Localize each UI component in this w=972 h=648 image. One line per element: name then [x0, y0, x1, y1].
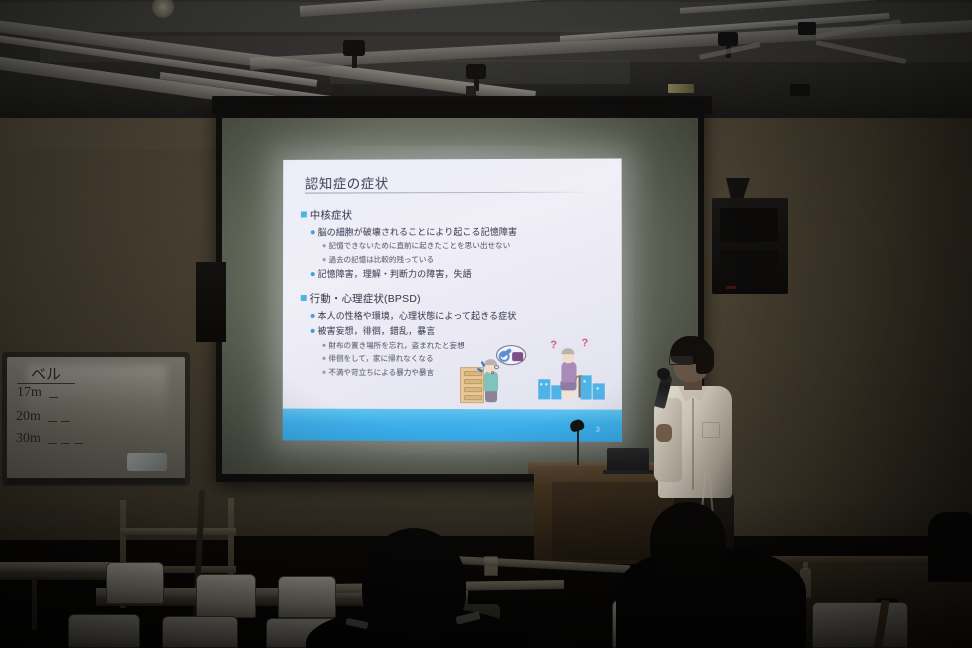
speaker-led-indicator [726, 286, 736, 289]
slide-title: 認知症の症状 [305, 172, 389, 192]
whiteboard-row-label: 20m [16, 409, 41, 425]
bullet-level2: 脳の細胞が破壊されることにより起こる記憶障害 [311, 224, 517, 237]
bullet-level2: 被害妄想，徘徊，錯乱，暴言 [311, 324, 517, 337]
audience-member-far-right [928, 512, 972, 582]
lecture-room-photo: 認知症の症状 中核症状 脳の細胞が破壊されることにより起こる記憶障害 記憶できな… [0, 0, 972, 648]
bullet-level2: 本人の性格や環境，心理状態によって起きる症状 [311, 308, 517, 321]
square-bullet-icon [301, 295, 307, 301]
wall-speaker-right [712, 198, 788, 294]
hollow-bullet-icon [322, 343, 325, 346]
dot-bullet-icon [311, 272, 315, 276]
presentation-laptop[interactable] [607, 448, 649, 470]
section-heading: 中核症状 [301, 207, 517, 223]
whiteboard-title: ベル [31, 363, 61, 384]
dot-bullet-icon [311, 313, 315, 317]
square-bullet-icon [301, 211, 307, 217]
dot-bullet-icon [311, 230, 315, 234]
chair [196, 574, 256, 618]
illustration-elderly-woman-wandering: ? ? [536, 335, 607, 408]
whiteboard-eraser [127, 453, 167, 471]
ceiling-fan-hub-icon [790, 84, 810, 96]
hollow-bullet-icon [323, 244, 326, 247]
presenter-shirt-placket [692, 398, 694, 490]
whiteboard-row-label: 17m [17, 385, 42, 401]
slide-page-number: 3 [596, 427, 600, 434]
chair [278, 576, 336, 618]
ceiling-fan-hub-icon [798, 22, 816, 35]
presenter-hand [656, 424, 672, 442]
chair [68, 614, 140, 648]
hollow-bullet-icon [322, 357, 325, 360]
dot-bullet-icon [311, 329, 315, 333]
chair [812, 602, 908, 648]
whiteboard-row-label: 30m [16, 431, 41, 447]
presenter-glasses-icon [669, 356, 693, 365]
whiteboard-marker-tray [7, 478, 185, 484]
shelf-board [120, 528, 236, 535]
chair [106, 562, 164, 604]
ceiling-speaker-icon [718, 32, 738, 46]
ceiling-speaker-icon [343, 40, 365, 56]
projected-slide: 認知症の症状 中核症状 脳の細胞が破壊されることにより起こる記憶障害 記憶できな… [283, 158, 622, 441]
presenter-shirt-pocket [702, 422, 720, 438]
wall-speaker-left [196, 262, 226, 342]
section-heading: 行動・心理症状(BPSD) [301, 291, 517, 306]
bullet-level3: 過去の記憶は比較的残っている [323, 253, 518, 264]
slide-title-underline [305, 192, 593, 194]
emergency-exit-sign [668, 84, 694, 93]
bullet-level3: 記憶できないために直前に起きたことを思い出せない [323, 240, 517, 251]
chair [162, 616, 238, 648]
hollow-bullet-icon [323, 258, 326, 261]
table-leg [32, 578, 37, 630]
whiteboard: ベル 17m 20m 30m [7, 357, 185, 481]
presenter-hair [696, 344, 714, 374]
hollow-bullet-icon [322, 370, 325, 373]
ceiling-speaker-icon [466, 64, 486, 79]
bullet-level2: 記憶障害，理解・判断力の障害，失語 [311, 267, 517, 280]
slide-section-core-symptoms: 中核症状 脳の細胞が破壊されることにより起こる記憶障害 記憶できないために直前に… [301, 207, 517, 280]
illustration-elderly-man-forgetting-wallet [460, 341, 522, 407]
